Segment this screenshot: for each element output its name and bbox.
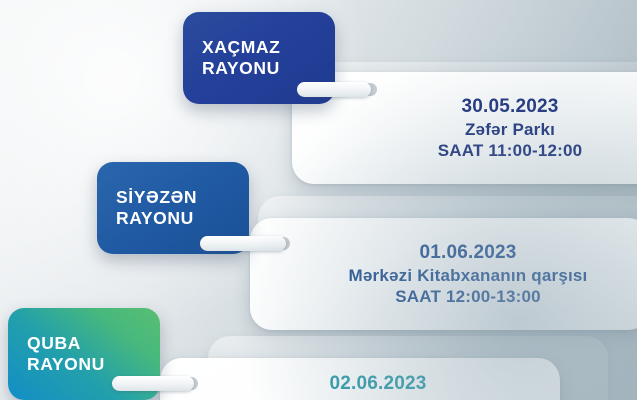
district-name-line2-3: RAYONU (27, 354, 160, 375)
connector-tab-1 (297, 82, 371, 97)
connector-tab-3 (112, 376, 194, 391)
district-name-line2-2: RAYONU (116, 208, 249, 229)
event-card-3[interactable]: 02.06.2023 (160, 358, 560, 400)
event-date-3: 02.06.2023 (329, 372, 426, 396)
event-card-2[interactable]: 01.06.2023 Mərkəzi Kitabxananın qarşısı … (250, 218, 637, 330)
event-place-2: Mərkəzi Kitabxananın qarşısı (349, 265, 588, 286)
event-place-1: Zəfər Parkı (465, 119, 555, 140)
district-name-line1-2: SİYƏZƏN (116, 187, 249, 208)
connector-tab-2 (200, 236, 286, 251)
event-schedule-poster: 30.05.2023 Zəfər Parkı SAAT 11:00-12:00 … (0, 0, 637, 400)
event-time-1: SAAT 11:00-12:00 (438, 140, 583, 161)
district-name-line1-3: QUBA (27, 333, 160, 354)
event-time-2: SAAT 12:00-13:00 (395, 286, 541, 307)
district-name-line2-1: RAYONU (202, 58, 335, 79)
event-date-1: 30.05.2023 (461, 95, 558, 119)
event-date-2: 01.06.2023 (419, 241, 516, 265)
district-name-line1-1: XAÇMAZ (202, 37, 335, 58)
